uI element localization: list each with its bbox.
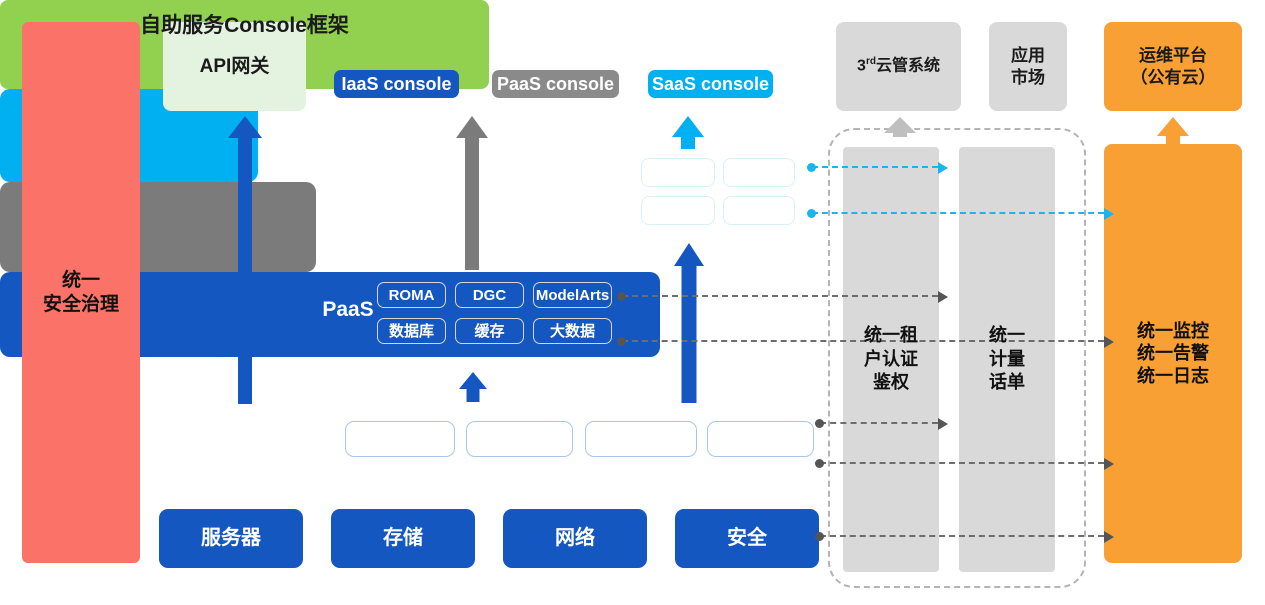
infra-service-compute[interactable]: Compute (345, 421, 455, 457)
connector-hardware-to-ops (820, 535, 1104, 537)
paas-service-modelarts[interactable]: ModelArts (533, 282, 612, 308)
arrow-up-icon-to-third-party (884, 117, 916, 137)
app-market-box[interactable]: 应用 市场 (989, 22, 1067, 111)
arrow-up-icon-infra-to-api (228, 116, 262, 404)
ops-monitoring-column[interactable]: 统一监控 统一告警 统一日志 (1104, 144, 1242, 563)
hardware-storage-box[interactable]: 存储 (331, 509, 475, 568)
connector-paas-to-ops (622, 340, 1104, 342)
paas-service-cache[interactable]: 缓存 (455, 318, 524, 344)
connector-paas-to-tenant-auth (622, 295, 938, 297)
hardware-network-box[interactable]: 网络 (503, 509, 647, 568)
architecture-diagram: 统一 安全治理 API网关 自助服务Console框架 IaaS console… (0, 0, 1265, 605)
saas-service-iot[interactable]: IoT (723, 158, 795, 187)
hardware-security-box[interactable]: 安全 (675, 509, 819, 568)
saas-service-desktop-cloud[interactable]: 桌面云 (723, 196, 795, 225)
connector-saas-to-tenant-auth (812, 166, 938, 168)
third-party-cloud-label: 3rd云管系统 (857, 56, 940, 76)
ops-platform-box[interactable]: 运维平台 （公有云） (1104, 22, 1242, 111)
tenant-auth-column[interactable]: 统一租 户认证 鉴权 (843, 147, 939, 572)
metering-column[interactable]: 统一 计量 话单 (959, 147, 1055, 572)
paas-layer-label: PaaS (312, 298, 384, 322)
arrow-up-icon-infra-to-saas (674, 243, 704, 403)
connector-infra-to-tenant-auth (820, 422, 938, 424)
paas-service-roma[interactable]: ROMA (377, 282, 446, 308)
saas-service-video-cloud[interactable]: 视频云 (641, 196, 715, 225)
infra-service-network[interactable]: Network (585, 421, 697, 457)
metering-label: 统一 计量 话单 (989, 324, 1025, 394)
arrow-up-icon-infra-to-paas (459, 372, 487, 402)
arrow-up-icon-paas-to-console (456, 116, 488, 270)
saas-service-blockchain[interactable]: 区块链 (641, 158, 715, 187)
arrow-up-icon-to-ops-platform (1157, 117, 1189, 145)
tenant-auth-label: 统一租 户认证 鉴权 (864, 324, 918, 394)
paas-service-bigdata[interactable]: 大数据 (533, 318, 612, 344)
paas-service-dgc[interactable]: DGC (455, 282, 524, 308)
console-framework-title: 自助服务Console框架 (0, 9, 489, 39)
connector-infra-to-ops (820, 462, 1104, 464)
paas-console-button[interactable]: PaaS console (492, 70, 619, 98)
infra-service-cce[interactable]: CCE (707, 421, 814, 457)
saas-console-button[interactable]: SaaS console (648, 70, 773, 98)
connector-saas-to-ops (812, 212, 1104, 214)
security-governance-panel[interactable]: 统一 安全治理 (22, 22, 140, 563)
hardware-server-box[interactable]: 服务器 (159, 509, 303, 568)
infrastructure-layer-label: 统一基础设施服务 (175, 424, 340, 453)
third-party-cloud-box[interactable]: 3rd云管系统 (836, 22, 961, 111)
arrow-up-icon-saas-to-console (672, 116, 704, 149)
infra-service-storage[interactable]: Storage (466, 421, 573, 457)
paas-service-database[interactable]: 数据库 (377, 318, 446, 344)
saas-layer-label: SaaS (562, 176, 636, 200)
iaas-console-button[interactable]: IaaS console (334, 70, 459, 98)
